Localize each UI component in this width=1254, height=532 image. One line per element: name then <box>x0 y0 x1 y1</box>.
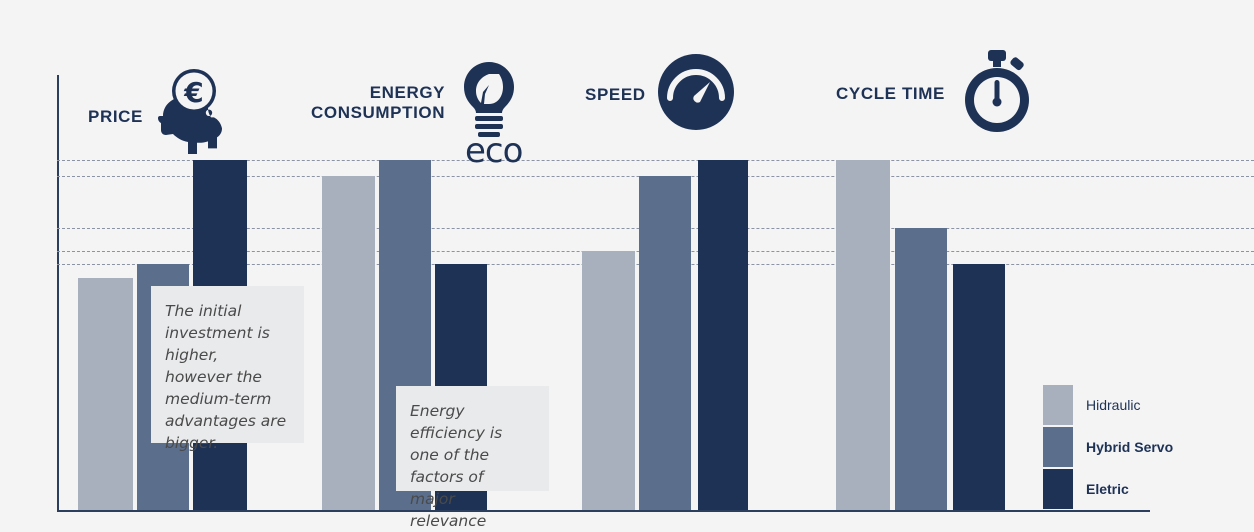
annotation-energy-note: Energy efficiency is one of the factors … <box>396 386 549 491</box>
category-label-speed: SPEED <box>585 85 646 104</box>
bar-cycle-time-hybrid-servo <box>895 228 947 510</box>
bar-cycle-time-eletric <box>953 264 1005 510</box>
bar-price-hidraulic <box>78 278 133 510</box>
bar-speed-hidraulic <box>582 251 635 510</box>
legend-item-hidraulic: Hidraulic <box>1042 384 1173 426</box>
speedometer-icon <box>656 52 736 137</box>
legend-label-hybrid-servo: Hybrid Servo <box>1086 439 1173 455</box>
infographic-chart: PRICE € ENERGY CONSUMPTION eco SPEED <box>0 0 1254 530</box>
eco-lightbulb-icon: eco <box>455 60 523 145</box>
annotation-price-note: The initial investment is higher, howeve… <box>151 286 304 443</box>
category-header-price: PRICE € <box>88 68 231 165</box>
x-axis <box>57 510 1150 512</box>
legend-item-eletric: Eletric <box>1042 468 1173 510</box>
legend-swatch-eletric <box>1042 468 1074 510</box>
category-label-price: PRICE <box>88 107 143 126</box>
category-header-energy: ENERGY CONSUMPTION eco <box>311 60 523 145</box>
eco-caption: eco <box>465 134 522 168</box>
category-header-cycle-time: CYCLE TIME <box>836 48 1039 139</box>
piggy-bank-euro-icon: € <box>153 68 231 165</box>
category-label-energy: ENERGY CONSUMPTION <box>311 83 445 121</box>
legend-label-eletric: Eletric <box>1086 481 1129 497</box>
legend-item-hybrid-servo: Hybrid Servo <box>1042 426 1173 468</box>
bar-speed-eletric <box>698 160 748 510</box>
legend: Hidraulic Hybrid Servo Eletric <box>1042 384 1173 510</box>
svg-text:€: € <box>183 76 203 109</box>
stopwatch-icon <box>955 48 1039 139</box>
legend-swatch-hidraulic <box>1042 384 1074 426</box>
bar-energy-hidraulic <box>322 176 375 510</box>
category-header-speed: SPEED <box>585 52 736 137</box>
y-axis <box>57 75 59 512</box>
legend-swatch-hybrid-servo <box>1042 426 1074 468</box>
bar-cycle-time-hidraulic <box>836 160 890 510</box>
bar-speed-hybrid-servo <box>639 176 691 510</box>
legend-label-hidraulic: Hidraulic <box>1086 397 1140 413</box>
category-label-cycle-time: CYCLE TIME <box>836 84 945 103</box>
